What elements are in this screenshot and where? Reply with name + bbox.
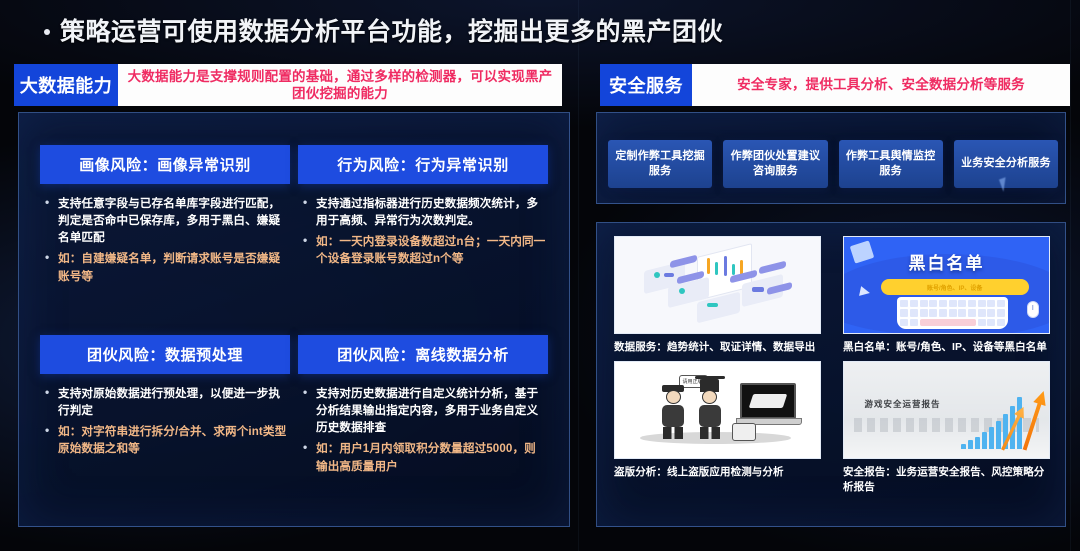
- gallery-item-data-service[interactable]: 数据服务：趋势统计、取证详情、数据导出: [614, 236, 821, 355]
- banner-security-service: 安全服务 安全专家，提供工具分析、安全数据分析等服务: [600, 64, 1070, 106]
- title-bullet-icon: [44, 29, 50, 35]
- banner-left-body: 大数据能力是支撑规则配置的基础，通过多样的检测器，可以实现黑产团伙挖掘的能力: [118, 64, 562, 106]
- thumbnail-security-report: 游戏安全运营报告: [843, 361, 1050, 459]
- laptop-icon: [740, 383, 800, 425]
- card-bullet: 支持任意字段与已存名单库字段进行匹配，判定是否命中已保存库，多用于黑白、嫌疑名单…: [44, 195, 288, 246]
- banner-right-body: 安全专家，提供工具分析、安全数据分析等服务: [692, 64, 1070, 106]
- title-text: 策略运营可使用数据分析平台功能，挖掘出更多的黑产团伙: [60, 12, 723, 48]
- card-bullet: 如：用户1月内领取积分数量超过5000，则输出高质量用户: [302, 440, 546, 474]
- service-button-row: 定制作弊工具挖掘服务 作弊团伙处置建议咨询服务 作弊工具舆情监控服务 业务安全分…: [608, 140, 1058, 188]
- banner-image-subtitle: 账号/角色、IP、设备: [881, 279, 1029, 295]
- gallery-caption: 安全报告：业务运营安全报告、风控策略分析报告: [843, 465, 1050, 495]
- card-bullet-list: 支持对历史数据进行自定义统计分析，基于分析结果输出指定内容，多用于业务自定义历史…: [298, 385, 548, 475]
- card-bullet-list: 支持对原始数据进行预处理，以便进一步执行判定 如：对字符串进行拆分/合并、求两个…: [40, 385, 290, 458]
- card-behavior-risk: 行为风险：行为异常识别 支持通过指标器进行历史数据频次统计，多用于高频、异常行为…: [298, 145, 548, 272]
- report-image-title: 游戏安全运营报告: [865, 398, 941, 410]
- banner-image-title: 黑白名单: [844, 249, 1049, 274]
- banner-big-data: 大数据能力 大数据能力是支撑规则配置的基础，通过多样的检测器，可以实现黑产团伙挖…: [14, 64, 562, 106]
- gallery-caption: 数据服务：趋势统计、取证详情、数据导出: [614, 340, 821, 355]
- gallery-item-security-report[interactable]: 游戏安全运营报告 安全报告：业务运营安全报告、风控策略分析报告: [843, 361, 1050, 495]
- service-button-tool-sentiment-monitor[interactable]: 作弊工具舆情监控服务: [839, 140, 943, 188]
- gallery-caption: 盗版分析：线上盗版应用检测与分析: [614, 465, 821, 480]
- service-button-custom-cheat-tool[interactable]: 定制作弊工具挖掘服务: [608, 140, 712, 188]
- page-title: 策略运营可使用数据分析平台功能，挖掘出更多的黑产团伙: [44, 12, 1060, 48]
- card-bullet: 如：一天内登录设备数超过n台；一天内同一个设备登录账号数超过n个等: [302, 233, 546, 267]
- banner-right-text: 安全专家，提供工具分析、安全数据分析等服务: [737, 76, 1025, 93]
- card-gang-risk-preprocess: 团伙风险：数据预处理 支持对原始数据进行预处理，以便进一步执行判定 如：对字符串…: [40, 335, 290, 462]
- card-bullet: 支持通过指标器进行历史数据频次统计，多用于高频、异常行为次数判定。: [302, 195, 546, 229]
- gallery-item-blacklist[interactable]: 黑白名单 账号/角色、IP、设备 黑白名单：账号/角色、IP、设备等黑白名单: [843, 236, 1050, 355]
- card-bullet: 支持对原始数据进行预处理，以便进一步执行判定: [44, 385, 288, 419]
- keyboard-icon: [897, 297, 1008, 330]
- banner-right-tag: 安全服务: [600, 64, 692, 106]
- character-thief: [693, 376, 727, 439]
- thumbnail-piracy-cartoon: 请用正版!: [614, 361, 821, 459]
- card-portrait-risk: 画像风险：画像异常识别 支持任意字段与已存名单库字段进行匹配，判定是否命中已保存…: [40, 145, 290, 289]
- mouse-icon: [1027, 301, 1039, 318]
- card-title: 团伙风险：数据预处理: [40, 335, 290, 374]
- card-bullet-list: 支持通过指标器进行历史数据频次统计，多用于高频、异常行为次数判定。 如：一天内登…: [298, 195, 548, 268]
- gallery-grid: 数据服务：趋势统计、取证详情、数据导出 黑白名单 账号/角色、IP、设备 黑白名…: [614, 236, 1050, 495]
- gallery-caption: 黑白名单：账号/角色、IP、设备等黑白名单: [843, 340, 1050, 355]
- card-title: 行为风险：行为异常识别: [298, 145, 548, 184]
- banner-left-tag: 大数据能力: [14, 64, 118, 106]
- card-bullet: 如：对字符串进行拆分/合并、求两个int类型原始数据之和等: [44, 423, 288, 457]
- character-policeman: [660, 385, 686, 439]
- isometric-illustration-icon: [615, 237, 820, 333]
- disc-stack-icon: [732, 423, 756, 441]
- gallery-item-piracy[interactable]: 请用正版! 盗版分析：线上盗版应用检测与分析: [614, 361, 821, 495]
- card-bullet: 支持对历史数据进行自定义统计分析，基于分析结果输出指定内容，多用于业务自定义历史…: [302, 385, 546, 436]
- report-growth-chart-icon: 游戏安全运营报告: [844, 362, 1049, 458]
- card-bullet-list: 支持任意字段与已存名单库字段进行匹配，判定是否命中已保存库，多用于黑白、嫌疑名单…: [40, 195, 290, 285]
- thumbnail-isometric-data: [614, 236, 821, 334]
- card-title: 团伙风险：离线数据分析: [298, 335, 548, 374]
- bar-chart-icon: [961, 397, 1022, 449]
- card-gang-risk-offline: 团伙风险：离线数据分析 支持对历史数据进行自定义统计分析，基于分析结果输出指定内…: [298, 335, 548, 479]
- card-title: 画像风险：画像异常识别: [40, 145, 290, 184]
- banner-left-text: 大数据能力是支撑规则配置的基础，通过多样的检测器，可以实现黑产团伙挖掘的能力: [126, 68, 554, 103]
- service-button-gang-handling-advice[interactable]: 作弊团伙处置建议咨询服务: [723, 140, 827, 188]
- card-bullet: 如：自建嫌疑名单，判断请求账号是否嫌疑账号等: [44, 250, 288, 284]
- thumbnail-blacklist-banner: 黑白名单 账号/角色、IP、设备: [843, 236, 1050, 334]
- piracy-cartoon-icon: 请用正版!: [615, 362, 820, 458]
- blacklist-banner-icon: 黑白名单 账号/角色、IP、设备: [844, 237, 1049, 333]
